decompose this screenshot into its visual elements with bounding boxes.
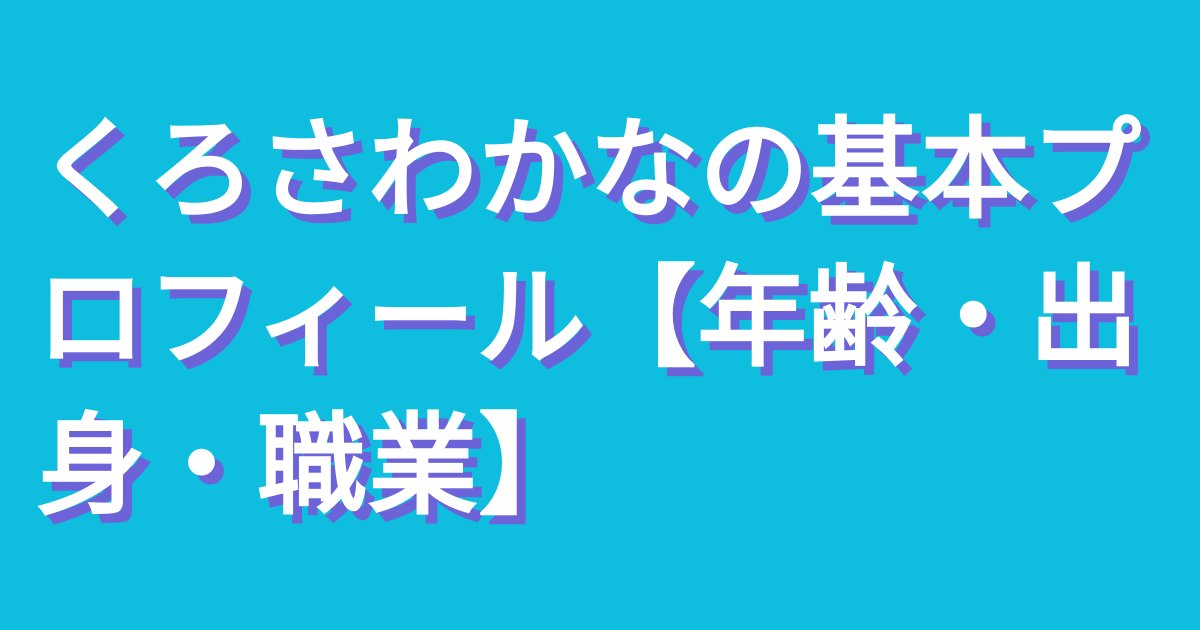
page-title: くろさわかなの基本プロフィール【年齢・出身・職業】 [36,96,1176,540]
og-image-card: くろさわかなの基本プロフィール【年齢・出身・職業】 [0,0,1200,630]
